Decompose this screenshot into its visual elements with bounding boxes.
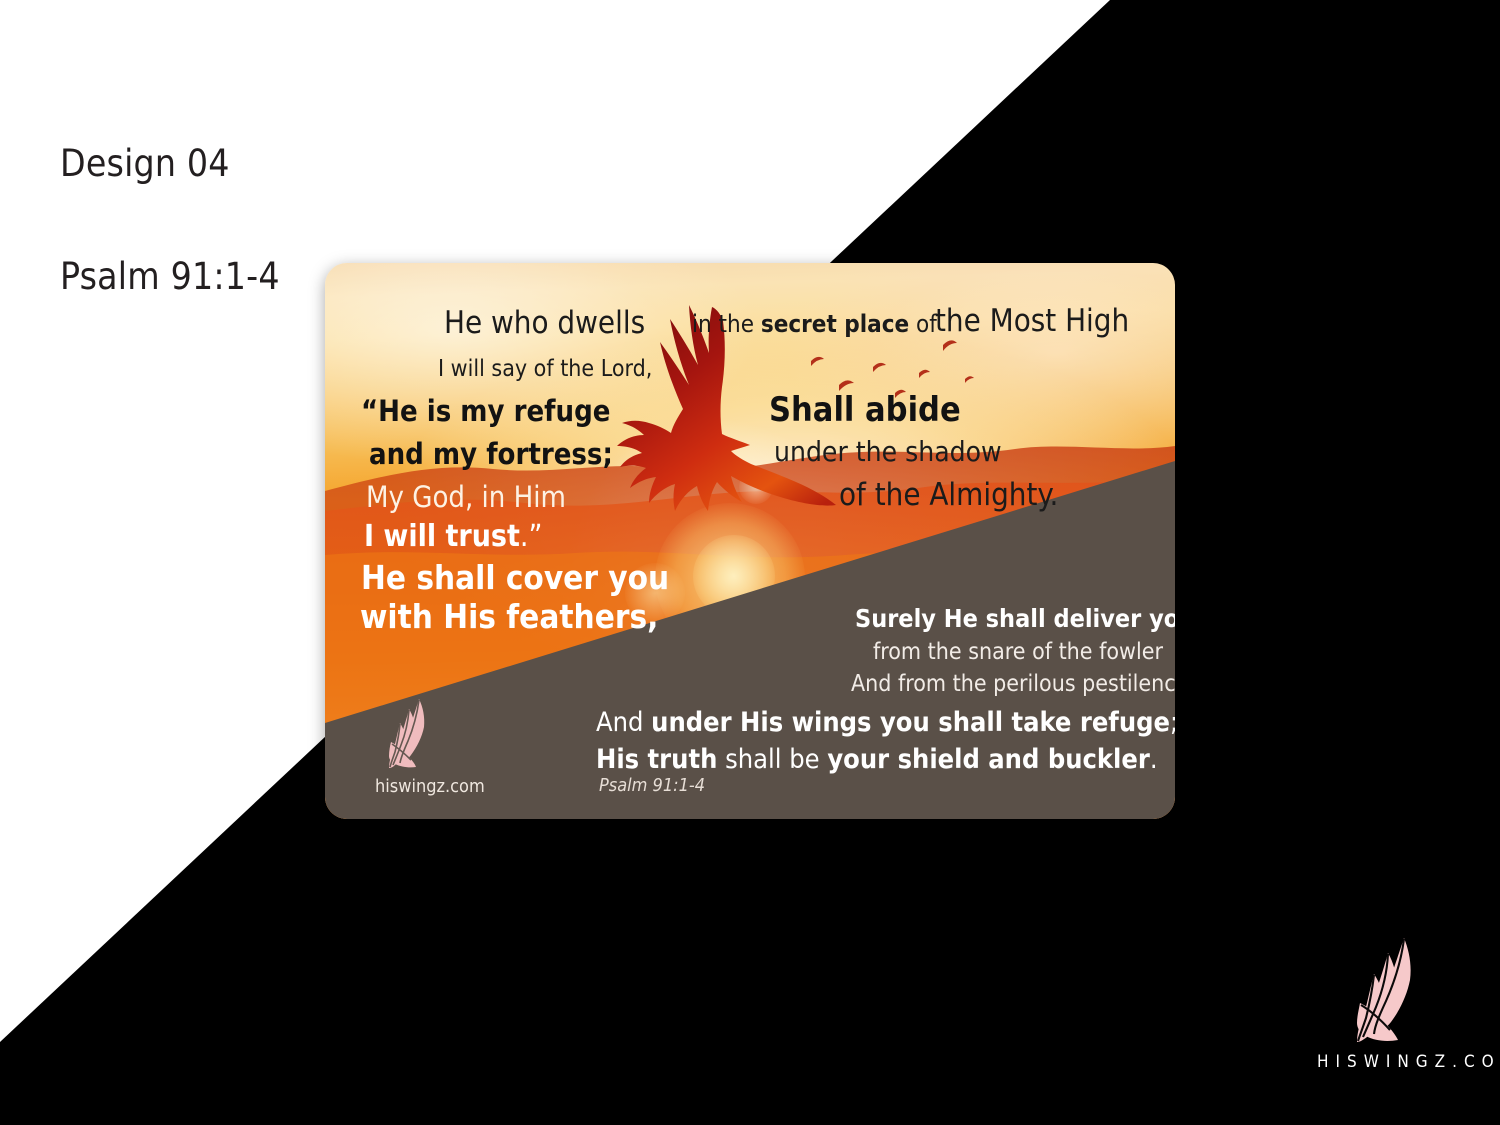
truth-bold-1: His truth xyxy=(596,744,717,775)
heading-line-2: Psalm 91:1-4 xyxy=(60,249,280,305)
card-site-label[interactable]: hiswingz.com xyxy=(375,776,485,797)
watermark-brand-text: HISWINGZ.COM xyxy=(1310,1052,1490,1072)
wing-icon xyxy=(389,697,445,769)
card-scripture-reference: Psalm 91:1-4 xyxy=(599,775,705,796)
gray-verse-block: Surely He shall deliver you from the sna… xyxy=(325,263,1175,819)
watermark-logo: HISWINGZ.COM xyxy=(1310,935,1490,1072)
verse-surely-deliver: Surely He shall deliver you xyxy=(855,604,1175,633)
slide-canvas: Design 04 Psalm 91:1-4 xyxy=(0,0,1500,1125)
verse-under-his-wings: And under His wings you shall take refug… xyxy=(596,707,1175,738)
scripture-card: He who dwells in the secret place of the… xyxy=(325,263,1175,819)
truth-bold-2: your shield and buckler xyxy=(827,744,1150,775)
truth-mid: shall be xyxy=(717,744,827,775)
truth-post: . xyxy=(1150,744,1158,775)
wings-post: ; xyxy=(1170,707,1175,738)
wings-pre: And xyxy=(596,707,651,738)
wings-bold: under His wings you shall take refuge xyxy=(651,707,1170,738)
verse-snare-fowler: from the snare of the fowler xyxy=(873,639,1163,665)
wing-icon xyxy=(1357,935,1443,1043)
verse-perilous-pestilence: And from the perilous pestilence. xyxy=(851,671,1175,697)
page-title: Design 04 Psalm 91:1-4 xyxy=(60,80,280,361)
heading-line-1: Design 04 xyxy=(60,142,230,185)
verse-his-truth-shield: His truth shall be your shield and buckl… xyxy=(596,744,1158,775)
